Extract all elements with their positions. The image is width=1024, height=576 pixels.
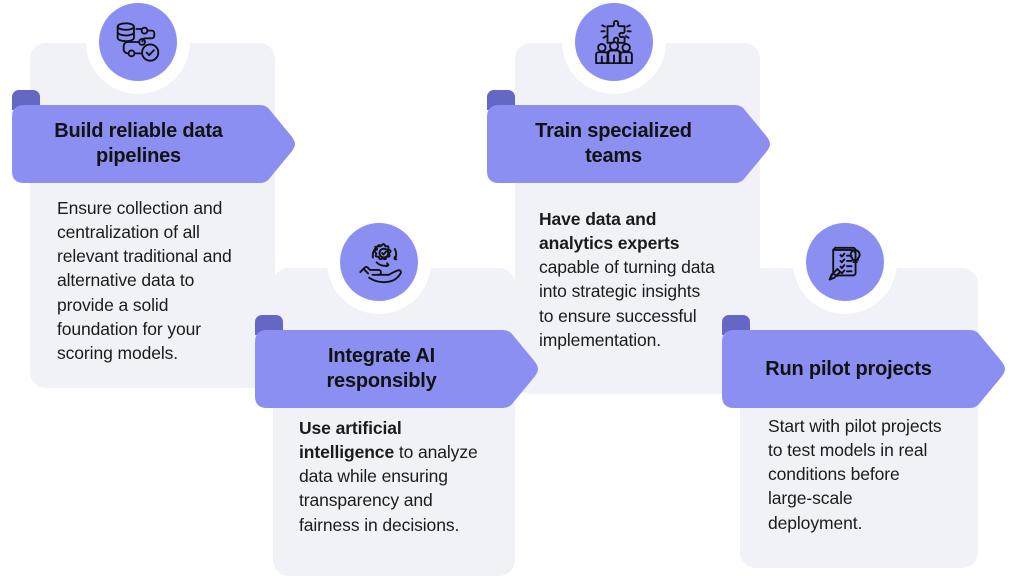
- step-title-label: Integrate AI responsibly: [326, 344, 466, 394]
- infographic-canvas: Build reliable data pipelines Ensure col…: [0, 0, 1024, 576]
- step-body-text: Ensure collection and centralization of …: [57, 196, 253, 365]
- step-body-rest: Start with pilot projects to test models…: [768, 416, 942, 533]
- step-title-banner[interactable]: Integrate AI responsibly: [255, 330, 538, 408]
- step-body-lead: Have data and analytics experts: [539, 209, 679, 253]
- step-title-banner[interactable]: Run pilot projects: [722, 330, 1005, 408]
- step-title-banner[interactable]: Train specialized teams: [487, 105, 770, 183]
- data-pipeline-icon: [99, 3, 177, 81]
- step-title-label: Run pilot projects: [765, 357, 961, 382]
- step-body-text: Have data and analytics experts capable …: [539, 207, 717, 352]
- step-body-text: Start with pilot projects to test models…: [768, 414, 948, 535]
- ai-gear-in-hand-icon: [340, 223, 418, 301]
- step-body-rest: Ensure collection and centralization of …: [57, 198, 232, 363]
- step-title-banner[interactable]: Build reliable data pipelines: [12, 105, 295, 183]
- step-title-label: Build reliable data pipelines: [54, 119, 252, 169]
- checklist-pencil-bulb-icon: [806, 223, 884, 301]
- step-body-rest: capable of turning data into strategic i…: [539, 257, 715, 349]
- step-title-label: Train specialized teams: [535, 119, 722, 169]
- step-body-text: Use artificial intelligence to analyze d…: [299, 416, 495, 537]
- team-puzzle-icon: [575, 3, 653, 81]
- step-body-lead: Use artificial intelligence: [299, 418, 402, 462]
